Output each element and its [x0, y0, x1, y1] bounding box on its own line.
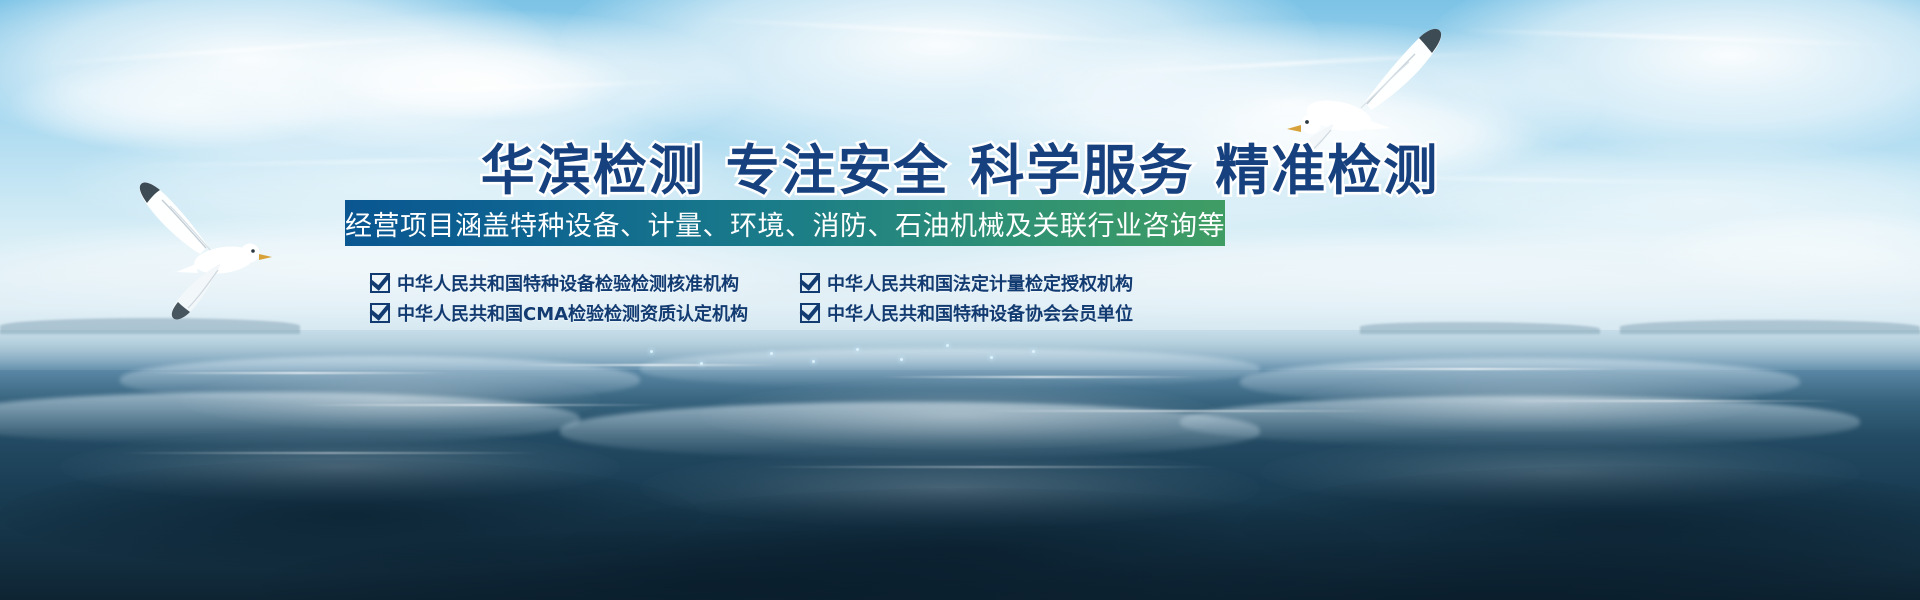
- credential-label: 中华人民共和国CMA检验检测资质认定机构: [397, 300, 748, 326]
- foam-line: [1500, 400, 1840, 402]
- water-sparkle: [700, 362, 703, 365]
- wave-ridge: [0, 392, 580, 444]
- water-sparkle: [650, 350, 653, 353]
- cirrus-streak: [1460, 28, 1890, 46]
- checkbox-checked-icon: [800, 273, 820, 293]
- foam-line: [880, 376, 1200, 378]
- cirrus-streak: [1080, 51, 1500, 76]
- foam-line: [150, 372, 450, 374]
- cirrus-streak: [330, 80, 690, 96]
- water-sparkle: [900, 358, 903, 361]
- cirrus-streak: [40, 33, 459, 65]
- foam-line: [300, 404, 660, 406]
- wave-ridge: [1180, 396, 1860, 446]
- hero-banner: 华滨检测 专注安全 科学服务 精准检测 经营项目涵盖特种设备、计量、环境、消防、…: [0, 0, 1920, 600]
- subtitle-bar: 经营项目涵盖特种设备、计量、环境、消防、石油机械及关联行业咨询等: [345, 200, 1225, 246]
- credential-label: 中华人民共和国特种设备检验检测核准机构: [397, 270, 739, 296]
- water-sparkle: [812, 360, 815, 363]
- list-item: 中华人民共和国CMA检验检测资质认定机构: [370, 300, 800, 326]
- water-sparkle: [990, 356, 993, 359]
- list-item: 中华人民共和国特种设备检验检测核准机构: [370, 270, 800, 296]
- distant-shore: [1360, 322, 1600, 334]
- page-title: 华滨检测 专注安全 科学服务 精准检测: [0, 126, 1920, 205]
- subtitle-text: 经营项目涵盖特种设备、计量、环境、消防、石油机械及关联行业咨询等: [345, 204, 1225, 243]
- credential-label: 中华人民共和国法定计量检定授权机构: [827, 270, 1133, 296]
- foam-line: [980, 410, 1380, 412]
- foam-line: [520, 364, 780, 366]
- foam-line: [760, 466, 1220, 468]
- water-sparkle: [770, 352, 773, 355]
- checkbox-checked-icon: [370, 303, 390, 323]
- credential-label: 中华人民共和国特种设备协会会员单位: [827, 300, 1133, 326]
- checkbox-checked-icon: [800, 303, 820, 323]
- foam-line: [1320, 368, 1620, 370]
- water-sparkle: [1032, 350, 1035, 353]
- wave-ridge: [640, 348, 1260, 388]
- list-item: 中华人民共和国特种设备协会会员单位: [800, 300, 1190, 326]
- cirrus-streak: [700, 17, 1179, 45]
- checkbox-checked-icon: [370, 273, 390, 293]
- water-sparkle: [946, 344, 949, 347]
- list-item: 中华人民共和国法定计量检定授权机构: [800, 270, 1190, 296]
- distant-shore: [1620, 320, 1920, 334]
- credentials-list: 中华人民共和国特种设备检验检测核准机构 中华人民共和国法定计量检定授权机构 中华…: [370, 268, 1190, 328]
- distant-shore: [0, 318, 300, 334]
- cloud-shape: [330, 40, 630, 120]
- water-sparkle: [856, 348, 859, 351]
- foam-line: [120, 452, 540, 454]
